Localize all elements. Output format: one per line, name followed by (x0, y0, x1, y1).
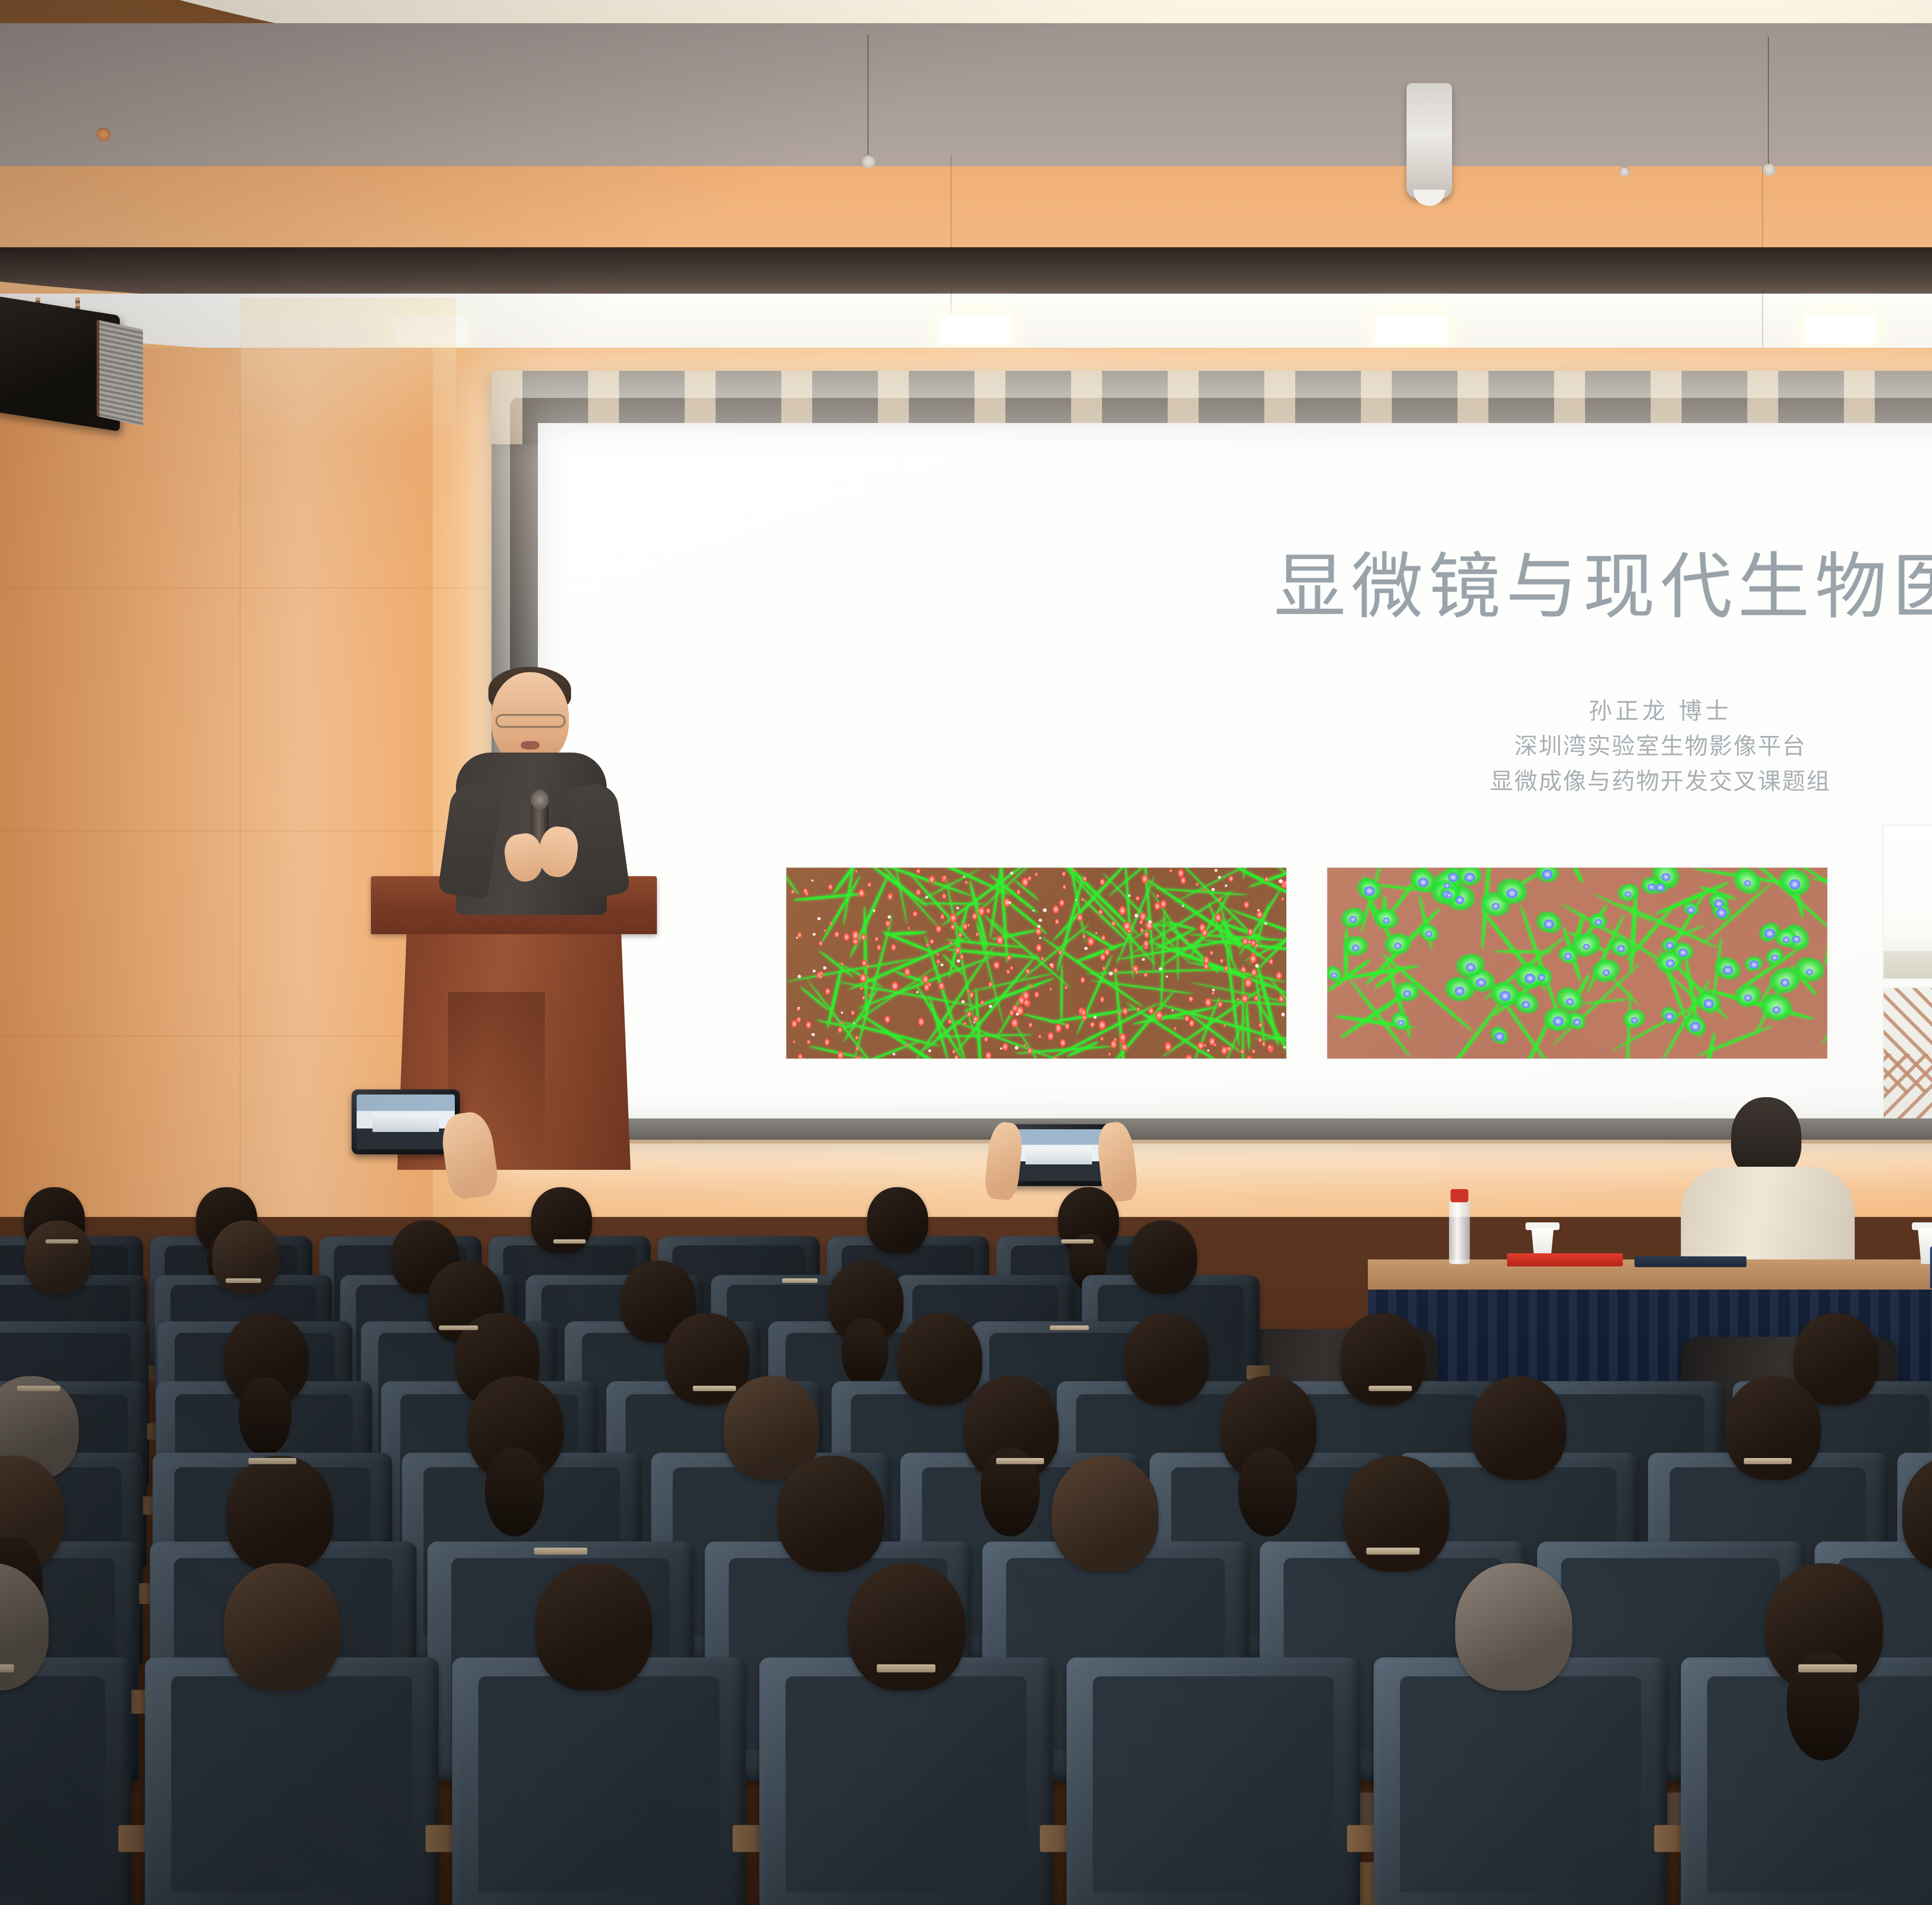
nucleus-marker (867, 965, 869, 968)
nucleus-marker (855, 1055, 861, 1060)
nucleus-marker (1036, 928, 1041, 935)
nucleus-marker (1215, 913, 1221, 922)
audience-attendee-head (898, 1313, 982, 1405)
seat-number-plate (996, 1458, 1044, 1464)
nucleus-marker (1221, 1046, 1227, 1055)
dapi-nucleus (1418, 878, 1429, 887)
dapi-nucleus (1500, 991, 1510, 1001)
audience-attendee-head (1340, 1313, 1425, 1405)
dapi-nucleus (1538, 974, 1545, 981)
nucleus-marker (851, 1010, 855, 1015)
ceiling-smoke-detector-icon (1619, 166, 1630, 177)
ceiling-hanger-wire (867, 35, 869, 155)
nucleus-marker (828, 884, 833, 890)
wall-panel-seam (240, 348, 241, 1236)
nucleus-marker-bright (1039, 937, 1041, 939)
nucleus-marker (819, 941, 823, 946)
seat-number-plate (1798, 1664, 1857, 1672)
nucleus-marker (855, 1046, 859, 1051)
nucleus-marker-bright (1043, 908, 1047, 912)
nucleus-marker (1204, 1044, 1206, 1047)
nucleus-marker (951, 924, 955, 930)
nucleus-marker-bright (823, 966, 827, 970)
slide-subtitle: 孙正龙 博士 深圳湾实验室生物影像平台 显微成像与药物开发交叉课题组 (538, 693, 1932, 799)
phone-screen (1010, 1129, 1108, 1181)
nucleus-marker (1284, 880, 1287, 887)
seat-number-plate (693, 1386, 736, 1391)
nucleus-marker (969, 992, 974, 998)
audience-seat[interactable] (145, 1657, 439, 1905)
ceiling-projector (1406, 83, 1452, 199)
nucleus-marker (924, 984, 929, 991)
audience-seat[interactable] (1066, 1657, 1360, 1905)
nucleus-marker-bright (957, 959, 960, 963)
nucleus-marker (1185, 1015, 1189, 1021)
nucleus-marker (1202, 929, 1207, 937)
nucleus-marker (1174, 1027, 1176, 1030)
nucleus-marker (955, 947, 960, 953)
audience-attendee-head (1129, 1220, 1197, 1294)
dapi-nucleus (1764, 929, 1775, 938)
nucleus-marker-bright (796, 937, 798, 939)
seat-number-plate (226, 1278, 261, 1283)
nucleus-marker (976, 932, 979, 936)
nucleus-marker (967, 924, 970, 927)
nucleus-marker (1154, 902, 1160, 910)
dapi-nucleus (1617, 945, 1625, 952)
nucleus-marker (1244, 901, 1249, 908)
nucleus-marker (1257, 911, 1263, 919)
nucleus-marker (819, 974, 822, 979)
nucleus-marker-bright (1010, 872, 1013, 875)
nucleus-marker (1055, 1024, 1062, 1033)
dapi-nucleus (1456, 896, 1464, 904)
seat-number-plate (248, 1458, 296, 1464)
nucleus-marker (1087, 937, 1094, 946)
blue-box (1930, 1246, 1932, 1289)
audience-attendee-head (224, 1563, 341, 1691)
nucleus-marker (1035, 872, 1038, 877)
nucleus-marker (1058, 949, 1063, 955)
nucleus-marker (858, 889, 865, 898)
nucleus-marker (984, 1037, 988, 1042)
lecture-hall-scene: 深圳湾实验室 Shenzhen Bay Laboratory 显微镜与现代生物医… (0, 0, 1932, 1905)
dapi-nucleus (1349, 916, 1357, 923)
audience-attendee-head (778, 1456, 884, 1572)
slide-image-abbe-formula: d = λ 2n sinα (1883, 987, 1932, 1118)
dapi-nucleus (1772, 1006, 1781, 1014)
nucleus-marker (960, 954, 964, 960)
nucleus-marker (1196, 882, 1199, 886)
dapi-nucleus (1352, 945, 1359, 951)
nucleus-marker (1242, 994, 1248, 1003)
nucleus-marker (937, 953, 939, 956)
nucleus-marker (1102, 1059, 1109, 1060)
nucleus-marker (1055, 919, 1059, 924)
nucleus-marker (958, 932, 962, 938)
nucleus-marker (891, 981, 898, 991)
dapi-nucleus (1781, 979, 1789, 986)
nucleus-marker (980, 1000, 984, 1005)
dapi-nucleus (1679, 948, 1688, 957)
nucleus-marker (1242, 938, 1248, 945)
audience-seat[interactable] (1374, 1657, 1667, 1905)
nucleus-marker (1081, 898, 1084, 901)
dapi-nucleus (1631, 1017, 1638, 1023)
nucleus-marker (1237, 998, 1239, 1001)
nucleus-marker (1059, 899, 1065, 907)
nucleus-marker (862, 960, 867, 967)
dapi-nucleus (1446, 892, 1452, 898)
nucleus-marker-bright (1172, 1009, 1173, 1011)
seat-number-plate (553, 1239, 586, 1243)
dapi-nucleus (1723, 966, 1733, 975)
nucleus-marker-bright (1182, 905, 1184, 907)
nucleus-marker-bright (1257, 909, 1260, 911)
nucleus-marker (1250, 954, 1256, 963)
projection-screen[interactable]: 深圳湾实验室 Shenzhen Bay Laboratory 显微镜与现代生物医… (538, 423, 1932, 1118)
slide-image-cells-dapi (1326, 867, 1828, 1060)
dapi-nucleus (1564, 953, 1572, 960)
dapi-nucleus (1714, 899, 1724, 908)
nucleus-marker (913, 911, 917, 917)
nucleus-marker (796, 1017, 801, 1023)
eyeglasses-icon (495, 714, 566, 728)
nucleus-marker (986, 908, 990, 914)
nucleus-marker (791, 1020, 797, 1028)
dapi-nucleus (1553, 1016, 1563, 1026)
nucleus-marker (1267, 1045, 1272, 1050)
dapi-nucleus (1403, 990, 1411, 997)
subtitle-line-2: 深圳湾实验室生物影像平台 (538, 729, 1932, 764)
dapi-nucleus (1789, 879, 1800, 889)
nucleus-marker (1119, 1033, 1126, 1042)
dapi-nucleus (1331, 972, 1338, 978)
nucleus-marker (1104, 948, 1110, 956)
dapi-nucleus (1492, 903, 1500, 910)
nucleus-marker (1141, 874, 1148, 884)
nucleus-marker (972, 913, 978, 920)
audience-attendee-head (1471, 1376, 1566, 1480)
nucleus-marker (855, 1035, 859, 1040)
subtitle-line-3: 显微成像与药物开发交叉课题组 (538, 764, 1932, 799)
dapi-nucleus (1666, 959, 1675, 967)
dapi-nucleus (1466, 963, 1475, 972)
nucleus-marker-bright (813, 933, 815, 936)
nucleus-marker (807, 1040, 810, 1044)
attendee-ponytail (239, 1377, 291, 1455)
seated-attendee-head (1731, 1097, 1801, 1178)
dapi-nucleus (1398, 1020, 1404, 1026)
nucleus-marker (1036, 944, 1042, 952)
slide-image-microscope (1883, 825, 1932, 979)
nucleus-marker (1189, 1020, 1194, 1027)
nucleus-marker-bright (1094, 1016, 1097, 1019)
nucleus-marker (791, 889, 794, 894)
nucleus-marker-bright (925, 896, 928, 899)
nucleus-marker (1241, 966, 1246, 973)
seat-number-plate (782, 1278, 818, 1283)
attendee-ponytail (1238, 1448, 1297, 1536)
nucleus-marker (1220, 958, 1223, 963)
nucleus-marker (1054, 1056, 1058, 1060)
nucleus-marker (867, 882, 871, 887)
nucleus-marker (825, 988, 830, 995)
nucleus-marker (1180, 877, 1186, 884)
dapi-nucleus (1507, 889, 1517, 898)
nucleus-marker (954, 1055, 959, 1060)
nucleus-marker-bright (1142, 958, 1145, 961)
nucleus-marker (861, 934, 866, 941)
nucleus-marker-bright (989, 1005, 992, 1008)
nucleus-marker (922, 975, 929, 984)
nucleus-marker (1281, 897, 1284, 901)
ceiling-downlight-icon (1762, 162, 1776, 176)
wall-speaker-grille-icon (97, 319, 143, 426)
dapi-nucleus (1573, 1019, 1581, 1026)
dark-folder (1634, 1256, 1747, 1267)
attendee-ponytail (842, 1318, 888, 1388)
presenter-mouth (521, 741, 539, 749)
nucleus-marker (888, 893, 893, 900)
nucleus-marker-bright (1109, 972, 1113, 975)
nucleus-marker (936, 925, 941, 933)
audience-attendee-head (1455, 1563, 1573, 1691)
nucleus-marker (1155, 1011, 1162, 1020)
nucleus-marker (918, 1018, 924, 1026)
nucleus-marker (965, 880, 968, 884)
nucleus-marker (862, 996, 865, 999)
audience-attendee-head (531, 1187, 592, 1254)
nucleus-marker (1063, 885, 1066, 889)
dapi-nucleus (1625, 891, 1631, 897)
dapi-nucleus (1648, 884, 1655, 890)
nucleus-marker (967, 1011, 971, 1017)
nucleus-marker (1185, 939, 1188, 942)
audience-attendee-head (24, 1220, 92, 1294)
nucleus-marker (1007, 955, 1011, 960)
nucleus-marker (1002, 1043, 1008, 1051)
wall-light-patch (240, 297, 456, 444)
nucleus-marker (993, 961, 1000, 970)
seat-number-plate (1061, 1239, 1094, 1243)
nucleus-marker (1139, 920, 1143, 925)
seat-number-plate (1050, 1326, 1089, 1331)
subtitle-line-1: 孙正龙 博士 (538, 693, 1932, 729)
nucleus-marker (936, 959, 940, 964)
nucleus-marker (1010, 966, 1013, 970)
attendee-ponytail (485, 1448, 544, 1536)
nucleus-marker (1197, 1042, 1204, 1050)
ceiling-sprinkler-icon (97, 127, 111, 141)
nucleus-marker (1160, 900, 1167, 908)
nucleus-marker (1006, 969, 1010, 974)
nucleus-marker (1245, 978, 1252, 987)
nucleus-marker (1123, 921, 1130, 931)
nucleus-marker (1026, 969, 1030, 974)
nucleus-marker (1098, 909, 1103, 915)
nucleus-marker (930, 939, 934, 944)
nucleus-marker (1224, 965, 1228, 971)
nucleus-marker-bright (1212, 989, 1214, 991)
nucleus-marker (988, 982, 993, 987)
nucleus-marker (800, 1057, 804, 1060)
nucleus-marker (1100, 1037, 1104, 1041)
dapi-nucleus (1665, 1013, 1674, 1021)
nucleus-marker (1254, 995, 1259, 1001)
dapi-nucleus (1662, 873, 1670, 881)
seat-number-plate (1369, 1386, 1412, 1391)
nucleus-marker (949, 941, 952, 945)
bench-surface (1884, 951, 1932, 978)
nucleus-marker (1218, 1001, 1223, 1008)
nucleus-marker-bright (1279, 879, 1282, 883)
nucleus-marker-bright (1159, 967, 1162, 971)
nucleus-marker (1083, 876, 1087, 882)
ceiling-downlight-icon (862, 155, 876, 168)
nucleus-marker (997, 936, 1003, 945)
abbe-formula: d = λ 2n sinα (1884, 1025, 1932, 1105)
audience-attendee-head (535, 1563, 653, 1691)
nucleus-marker (1136, 896, 1139, 901)
nucleus-marker (1122, 1008, 1128, 1015)
audience-attendee-head (867, 1187, 928, 1254)
nucleus-marker (963, 923, 968, 930)
nucleus-marker-bright (928, 1049, 931, 1052)
dapi-nucleus (1771, 955, 1778, 961)
nucleus-marker (1210, 950, 1213, 955)
audience-seat[interactable] (759, 1657, 1053, 1905)
nucleus-marker (1030, 984, 1032, 987)
dapi-nucleus (1383, 918, 1389, 924)
nucleus-marker (1287, 915, 1287, 921)
nucleus-marker (1049, 987, 1052, 991)
nucleus-marker-bright (940, 964, 944, 967)
nucleus-marker-bright (798, 975, 801, 978)
nucleus-marker (834, 931, 839, 938)
nucleus-marker (1100, 879, 1105, 885)
nucleus-marker (1080, 977, 1085, 983)
slide-title: 显微镜与现代生物医学 (538, 528, 1932, 632)
dapi-nucleus (1666, 942, 1674, 949)
nucleus-marker (885, 920, 890, 927)
audience-attendee-head (1052, 1456, 1158, 1572)
nucleus-marker-bright (1039, 919, 1042, 922)
nucleus-marker-bright (1037, 925, 1041, 928)
dapi-nucleus (1394, 943, 1401, 949)
nucleus-marker-bright (841, 1011, 843, 1013)
audience-attendee-head (226, 1456, 333, 1572)
dapi-nucleus (1806, 969, 1813, 975)
nucleus-marker (1251, 969, 1257, 976)
dapi-nucleus (1690, 1022, 1701, 1032)
nucleus-marker (1135, 970, 1138, 974)
dapi-nucleus (1525, 974, 1536, 983)
nucleus-marker (1053, 905, 1059, 914)
audience-seat[interactable] (452, 1657, 746, 1905)
dapi-nucleus (1744, 994, 1752, 1001)
nucleus-marker-bright (1214, 869, 1218, 872)
dapi-nucleus (1495, 1032, 1504, 1041)
nucleus-marker (852, 930, 859, 940)
nucleus-marker (916, 868, 920, 874)
nucleus-marker (1204, 963, 1209, 970)
nucleus-marker (1189, 996, 1193, 1002)
nucleus-marker (926, 943, 929, 947)
nucleus-marker-bright (893, 1053, 895, 1055)
seat-number-plate (0, 1664, 14, 1672)
nucleus-marker (1165, 1042, 1172, 1051)
nucleus-marker (825, 1038, 830, 1046)
nucleus-marker (1227, 1046, 1231, 1052)
nucleus-marker (884, 1015, 890, 1023)
nucleus-marker (1023, 1044, 1026, 1047)
ceiling-light-panel (939, 315, 1011, 344)
ceiling-light-panel (1804, 315, 1876, 344)
nucleus-marker (1121, 1043, 1128, 1051)
dapi-nucleus (1603, 969, 1610, 976)
bottle-cap (1451, 1189, 1468, 1202)
nucleus-marker (1065, 986, 1067, 989)
dapi-nucleus (1783, 936, 1790, 943)
seat-number-plate (46, 1239, 78, 1243)
nucleus-marker (1108, 1052, 1111, 1056)
seat-number-plate (1366, 1548, 1420, 1555)
nucleus-marker (1114, 968, 1117, 973)
nucleus-marker (1077, 914, 1083, 921)
nucleus-marker-bright (811, 879, 813, 881)
nucleus-marker (1081, 1009, 1087, 1016)
seat-number-plate (439, 1326, 478, 1331)
nucleus-marker (1119, 906, 1126, 915)
nucleus-marker (1258, 1037, 1262, 1043)
nucleus-marker (1252, 1049, 1255, 1054)
nucleus-marker (1205, 998, 1211, 1007)
dapi-nucleus (1544, 919, 1554, 929)
nucleus-marker (1262, 1042, 1265, 1046)
nucleus-marker (793, 1040, 795, 1043)
nucleus-marker-bright (873, 909, 875, 912)
nucleus-marker (844, 933, 850, 941)
water-bottle (1449, 1198, 1470, 1264)
nucleus-marker (1100, 996, 1105, 1003)
nucleus-marker-bright (1281, 1013, 1285, 1016)
nucleus-marker (830, 922, 832, 925)
seat-number-plate (1744, 1458, 1792, 1464)
nucleus-marker (803, 888, 808, 894)
nucleus-marker (1029, 1022, 1032, 1028)
nucleus-marker-bright (1084, 947, 1087, 950)
seat-number-plate (534, 1548, 587, 1555)
nucleus-marker (875, 936, 878, 941)
dapi-nucleus (1464, 873, 1475, 882)
nucleus-marker (860, 974, 867, 983)
seat-number-plate (877, 1664, 935, 1672)
audience-seat[interactable] (0, 1657, 131, 1905)
neurite-filament (921, 902, 985, 904)
nucleus-marker (942, 893, 946, 899)
nucleus-marker (1156, 894, 1159, 898)
nucleus-marker (841, 962, 843, 965)
phone-screen (357, 1094, 455, 1149)
dapi-nucleus (1476, 978, 1486, 987)
nucleus-marker (1140, 928, 1144, 933)
nucleus-marker-bright (1218, 876, 1221, 879)
nucleus-marker (1259, 1022, 1262, 1027)
nucleus-marker (948, 1019, 952, 1024)
nucleus-marker (1111, 1040, 1117, 1049)
nucleus-marker (929, 875, 935, 884)
